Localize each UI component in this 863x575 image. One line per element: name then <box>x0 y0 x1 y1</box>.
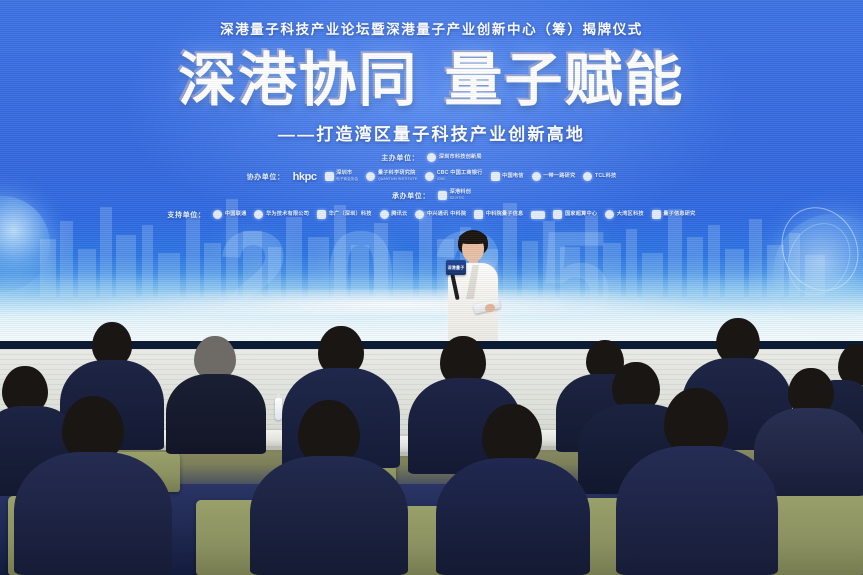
sponsor-logo-subtext: ICBC <box>437 177 483 181</box>
conference-photo: 2025 <box>0 0 863 575</box>
sponsor-row-label: 协办单位： <box>247 172 285 182</box>
sponsor-logo-text: 量子科学研究院QUANTUM INSTITUTE <box>378 171 417 181</box>
sponsor-logo-text: 华广（深圳）科技 <box>329 212 372 218</box>
sponsor-logo-mark-icon <box>415 210 424 219</box>
headline-right: 量子赋能 <box>445 46 685 114</box>
sponsor-logo-shenzhen-hk-innovation: 深港科创SZ-HTIC <box>438 190 471 200</box>
event-subheadline: ——打造湾区量子科技产业创新高地 <box>0 120 863 145</box>
sponsor-logo-mark-icon <box>652 210 661 219</box>
sponsor-logo-tcl: TCL科技 <box>583 172 616 181</box>
sponsor-row-label: 承办单位： <box>392 191 430 201</box>
sponsor-logo-mark-icon <box>427 153 436 162</box>
sponsor-logo-mark-icon <box>325 172 334 181</box>
sponsor-row-label: 主办单位： <box>381 153 419 163</box>
sponsor-logo-support-ten: 量子信息研究 <box>652 210 696 219</box>
sponsor-wordmark: hkpc <box>293 171 317 183</box>
sponsor-logo-text: 华为技术有限公司 <box>266 212 309 218</box>
host-hair-front <box>459 232 487 244</box>
sponsor-logo-subtext: QUANTUM INSTITUTE <box>378 177 417 181</box>
sponsor-row: 主办单位：深圳市科技创新局 <box>0 148 863 167</box>
sponsor-logo-text: 中科院量子信息 <box>486 212 524 218</box>
sponsor-logo-text: 量子信息研究 <box>663 212 695 218</box>
led-backdrop-screen: 2025 <box>0 0 863 345</box>
sponsor-logo-text: 中兴通讯 中科院 <box>427 212 466 218</box>
sponsor-row: 支持单位：中国联通华为技术有限公司华广（深圳）科技腾讯云中兴通讯 中科院中科院量… <box>0 205 863 224</box>
sponsor-logo-hkpc: hkpc <box>293 171 317 183</box>
sponsor-logo-text: 中国联通 <box>225 212 247 218</box>
sponsor-logo-subtext: SZ-HTIC <box>449 196 471 200</box>
sponsor-logo-partner-seven: 一带一路研究 <box>532 172 576 181</box>
sponsor-row: 协办单位：hkpc深圳市电子商会协会量子科学研究院QUANTUM INSTITU… <box>0 167 863 186</box>
sponsor-logo-quantum-institute: 量子科学研究院QUANTUM INSTITUTE <box>366 171 417 181</box>
sponsor-logo-support-two: 华为技术有限公司 <box>254 210 309 219</box>
sponsor-logo-shenzhen-industry-assoc: 深圳市电子商会协会 <box>325 171 359 181</box>
sponsor-logo-subtext: 电子商会协会 <box>336 177 358 181</box>
sponsor-logo-text: CBC 中国工商银行ICBC <box>437 171 483 181</box>
cloud-wisp <box>0 289 863 315</box>
sponsor-logo-cbc: CBC 中国工商银行ICBC <box>425 171 482 181</box>
sponsor-logo-smic: 中国电信 <box>491 172 524 181</box>
event-host-figure: 深港量子 <box>440 230 506 345</box>
headline-left: 深港协同 <box>178 46 418 114</box>
water-bottle <box>275 398 282 420</box>
sponsor-row: 承办单位：深港科创SZ-HTIC <box>0 186 863 205</box>
sponsor-logo-text: 腾讯云 <box>391 212 407 218</box>
sponsor-logo-mark-icon <box>532 172 541 181</box>
sponsor-logo-mark-icon <box>213 210 222 219</box>
sponsor-logo-mark-icon <box>254 210 263 219</box>
sponsor-logo-shenzhen-science-tech-bureau: 深圳市科技创新局 <box>427 153 482 162</box>
event-kicker-title: 深港量子科技产业论坛暨深港量子产业创新中心（筹）揭牌仪式 <box>0 18 863 38</box>
sponsor-logo-support-nine: 大湾区科技 <box>605 210 643 219</box>
sponsor-logo-mark-icon <box>438 191 447 200</box>
sponsor-row-label: 支持单位： <box>167 210 205 220</box>
sponsor-logo-mark-icon <box>491 172 500 181</box>
sponsor-logo-support-three: 华广（深圳）科技 <box>317 210 372 219</box>
sponsor-logo-text: 大湾区科技 <box>617 212 644 218</box>
sponsor-logo-mark-icon <box>425 172 434 181</box>
sponsor-logo-text: 深港科创SZ-HTIC <box>449 190 471 200</box>
microphone-flag-label: 深港量子 <box>448 265 465 271</box>
sponsor-logo-mark-icon <box>553 210 562 219</box>
sponsor-logo-text: 深圳市电子商会协会 <box>336 171 358 181</box>
sponsor-logo-text: 中国电信 <box>502 174 524 180</box>
sponsor-logo-text: 一带一路研究 <box>543 174 575 180</box>
sponsor-logo-support-eight: 国家超算中心 <box>553 210 597 219</box>
sponsor-logo-mark-icon <box>531 211 545 219</box>
sponsor-logo-mark-icon <box>583 172 592 181</box>
sponsor-logo-support-six: 中科院量子信息 <box>474 210 523 219</box>
sponsor-logo-mark-icon <box>317 210 326 219</box>
sponsor-logo-support-seven <box>531 211 545 219</box>
microphone-flag: 深港量子 <box>446 260 466 275</box>
sponsor-logo-text: 深圳市科技创新局 <box>439 155 482 161</box>
sponsor-logo-text: TCL科技 <box>595 174 616 180</box>
sponsor-logo-support-four: 腾讯云 <box>380 210 408 219</box>
sponsor-logo-mark-icon <box>605 210 614 219</box>
sponsor-logo-mark-icon <box>380 210 389 219</box>
sponsor-rows: 主办单位：深圳市科技创新局协办单位：hkpc深圳市电子商会协会量子科学研究院QU… <box>0 148 863 224</box>
event-headline: 深港协同量子赋能 <box>0 50 863 111</box>
sponsor-logo-mark-icon <box>366 172 375 181</box>
sponsor-logo-support-five: 中兴通讯 中科院 <box>415 210 466 219</box>
sponsor-logo-mark-icon <box>474 210 483 219</box>
sponsor-logo-support-one: 中国联通 <box>213 210 246 219</box>
sponsor-logo-text: 国家超算中心 <box>565 212 597 218</box>
